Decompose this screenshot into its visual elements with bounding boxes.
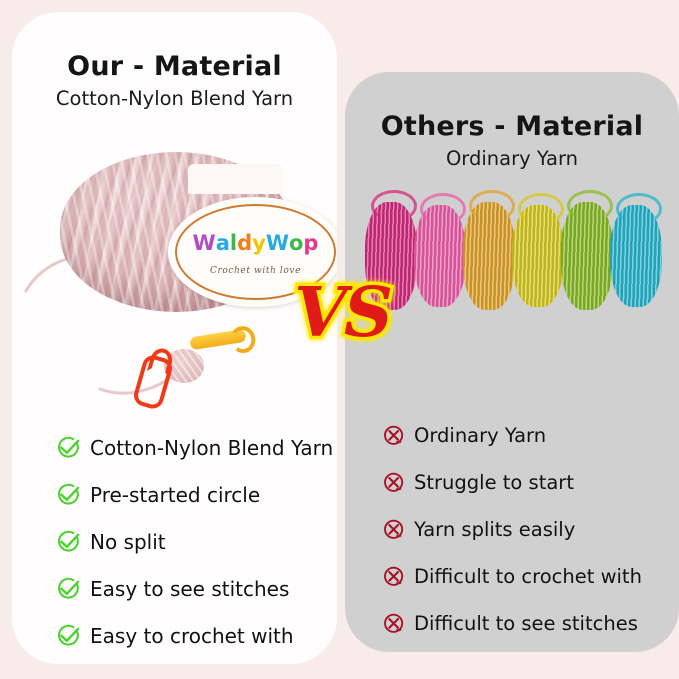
yarn-skein (561, 202, 613, 310)
our-feature-label: Easy to crochet with (90, 625, 294, 647)
our-material-heading: Our - Material Cotton-Nylon Blend Yarn (12, 52, 337, 109)
our-material-title: Our - Material (12, 52, 337, 82)
feature-row: Struggle to start (382, 459, 679, 506)
brand-letter-3: d (237, 231, 252, 255)
feature-row: No split (56, 518, 337, 565)
brand-tagline: Crochet with love (210, 266, 301, 276)
our-feature-list: Cotton-Nylon Blend YarnPre-started circl… (12, 424, 337, 659)
comparison-infographic: Our - Material Cotton-Nylon Blend Yarn W… (0, 0, 679, 679)
others-material-subtitle: Ordinary Yarn (345, 148, 679, 169)
check-circle-icon (56, 435, 81, 460)
x-circle-icon (382, 471, 406, 495)
ordinary-yarn-skeins-photo (365, 190, 661, 322)
yarn-ball: WaldyWop Crochet with love (60, 152, 292, 312)
check-circle-icon (56, 482, 81, 507)
x-circle-icon (382, 424, 406, 448)
others-material-panel: Others - Material Ordinary Yarn Ordinary… (345, 72, 679, 652)
others-feature-label: Difficult to see stitches (414, 613, 638, 634)
feature-row: Cotton-Nylon Blend Yarn (56, 424, 337, 471)
others-feature-list: Ordinary YarnStruggle to startYarn split… (345, 412, 679, 647)
others-material-title: Others - Material (345, 112, 679, 142)
feature-row: Difficult to see stitches (382, 600, 679, 647)
feature-row: Pre-started circle (56, 471, 337, 518)
vs-label: VS (292, 277, 392, 349)
our-feature-label: Pre-started circle (90, 484, 260, 506)
brand-letter-4: y (252, 231, 266, 255)
others-material-heading: Others - Material Ordinary Yarn (345, 112, 679, 169)
others-feature-label: Difficult to crochet with (414, 566, 642, 587)
feature-row: Ordinary Yarn (382, 412, 679, 459)
our-material-panel: Our - Material Cotton-Nylon Blend Yarn W… (12, 12, 337, 664)
our-feature-label: Cotton-Nylon Blend Yarn (90, 437, 333, 459)
x-circle-icon (382, 518, 406, 542)
crochet-hook-icon (189, 329, 246, 351)
brand-letter-0: W (193, 231, 216, 255)
brand-logo: WaldyWop (193, 231, 319, 255)
yarn-skein (610, 205, 662, 307)
x-circle-icon (382, 565, 406, 589)
others-feature-label: Ordinary Yarn (414, 425, 546, 446)
vs-badge: VS (292, 277, 392, 352)
yarn-ball-top-band (188, 164, 283, 194)
check-circle-icon (56, 623, 81, 648)
brand-letter-7: p (303, 231, 318, 255)
check-circle-icon (56, 529, 81, 554)
our-feature-label: Easy to see stitches (90, 578, 289, 600)
others-feature-label: Struggle to start (414, 472, 574, 493)
feature-row: Easy to see stitches (56, 565, 337, 612)
feature-row: Easy to crochet with (56, 612, 337, 659)
others-feature-label: Yarn splits easily (414, 519, 575, 540)
brand-letter-1: a (216, 231, 230, 255)
x-circle-icon (382, 612, 406, 636)
our-yarn-ball-photo: WaldyWop Crochet with love (12, 137, 337, 412)
brand-letter-5: W (266, 231, 289, 255)
brand-letter-6: o (289, 231, 303, 255)
feature-row: Difficult to crochet with (382, 553, 679, 600)
feature-row: Yarn splits easily (382, 506, 679, 553)
our-feature-label: No split (90, 531, 166, 553)
brand-letter-2: l (230, 231, 237, 255)
our-material-subtitle: Cotton-Nylon Blend Yarn (12, 88, 337, 109)
yarn-skein (463, 202, 515, 310)
yarn-skein (414, 205, 466, 307)
check-circle-icon (56, 576, 81, 601)
yarn-skein (512, 205, 564, 307)
